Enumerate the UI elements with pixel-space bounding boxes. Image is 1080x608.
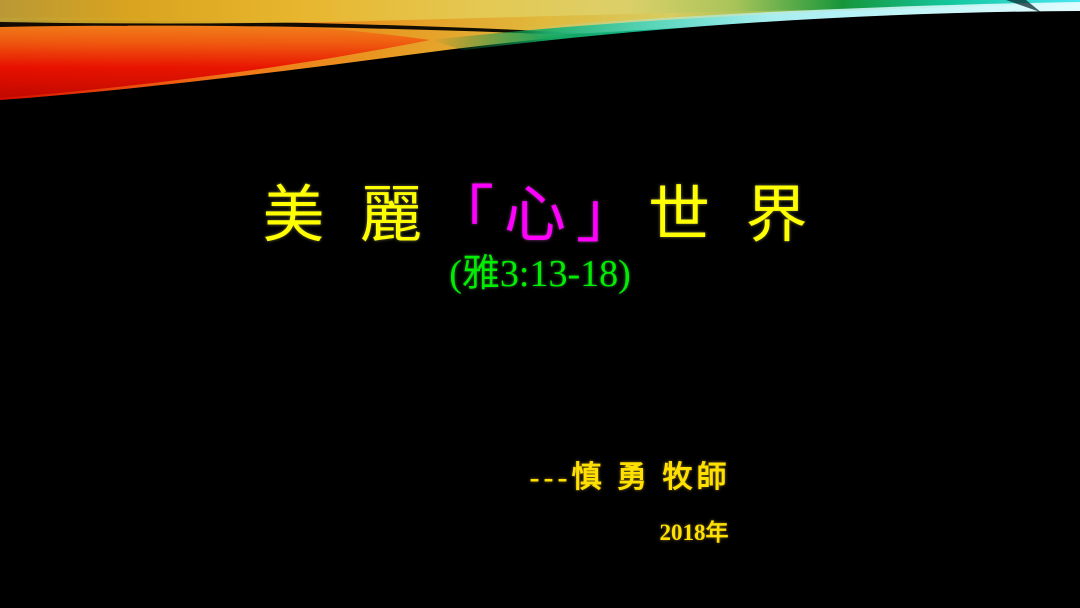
banner-cyan-band <box>430 4 1080 52</box>
banner-lower-mask <box>0 11 1080 120</box>
author-name: ---慎 勇 牧師 <box>0 452 1080 496</box>
banner-red-shading <box>0 18 430 98</box>
title-block: 美 麗「心」世 界 (雅3:13-18) <box>0 182 1080 297</box>
presentation-slide: 美 麗「心」世 界 (雅3:13-18) ---慎 勇 牧師 2018年 <box>0 0 1080 608</box>
title-part-1: 美 麗 <box>262 182 432 250</box>
title-bracket-close: 」 <box>576 182 648 250</box>
banner-corner-streak <box>1006 0 1080 44</box>
banner-artwork <box>0 0 1080 120</box>
decorative-swoosh-banner <box>0 0 1080 120</box>
author-year: 2018年 <box>0 513 1080 547</box>
banner-top-strip <box>0 0 1080 24</box>
title-part-2: 世 界 <box>648 182 818 250</box>
title-bracket-open: 「 <box>432 182 504 250</box>
slide-subtitle-scripture-reference: (雅3:13-18) <box>0 253 1080 297</box>
banner-dark-wedge <box>0 20 640 40</box>
slide-title: 美 麗「心」世 界 <box>0 182 1080 251</box>
title-highlight-word: 心 <box>504 182 576 250</box>
author-block: ---慎 勇 牧師 2018年 <box>0 452 1080 547</box>
banner-warm-band <box>0 0 1080 100</box>
banner-cyan-highlight <box>520 2 1080 36</box>
